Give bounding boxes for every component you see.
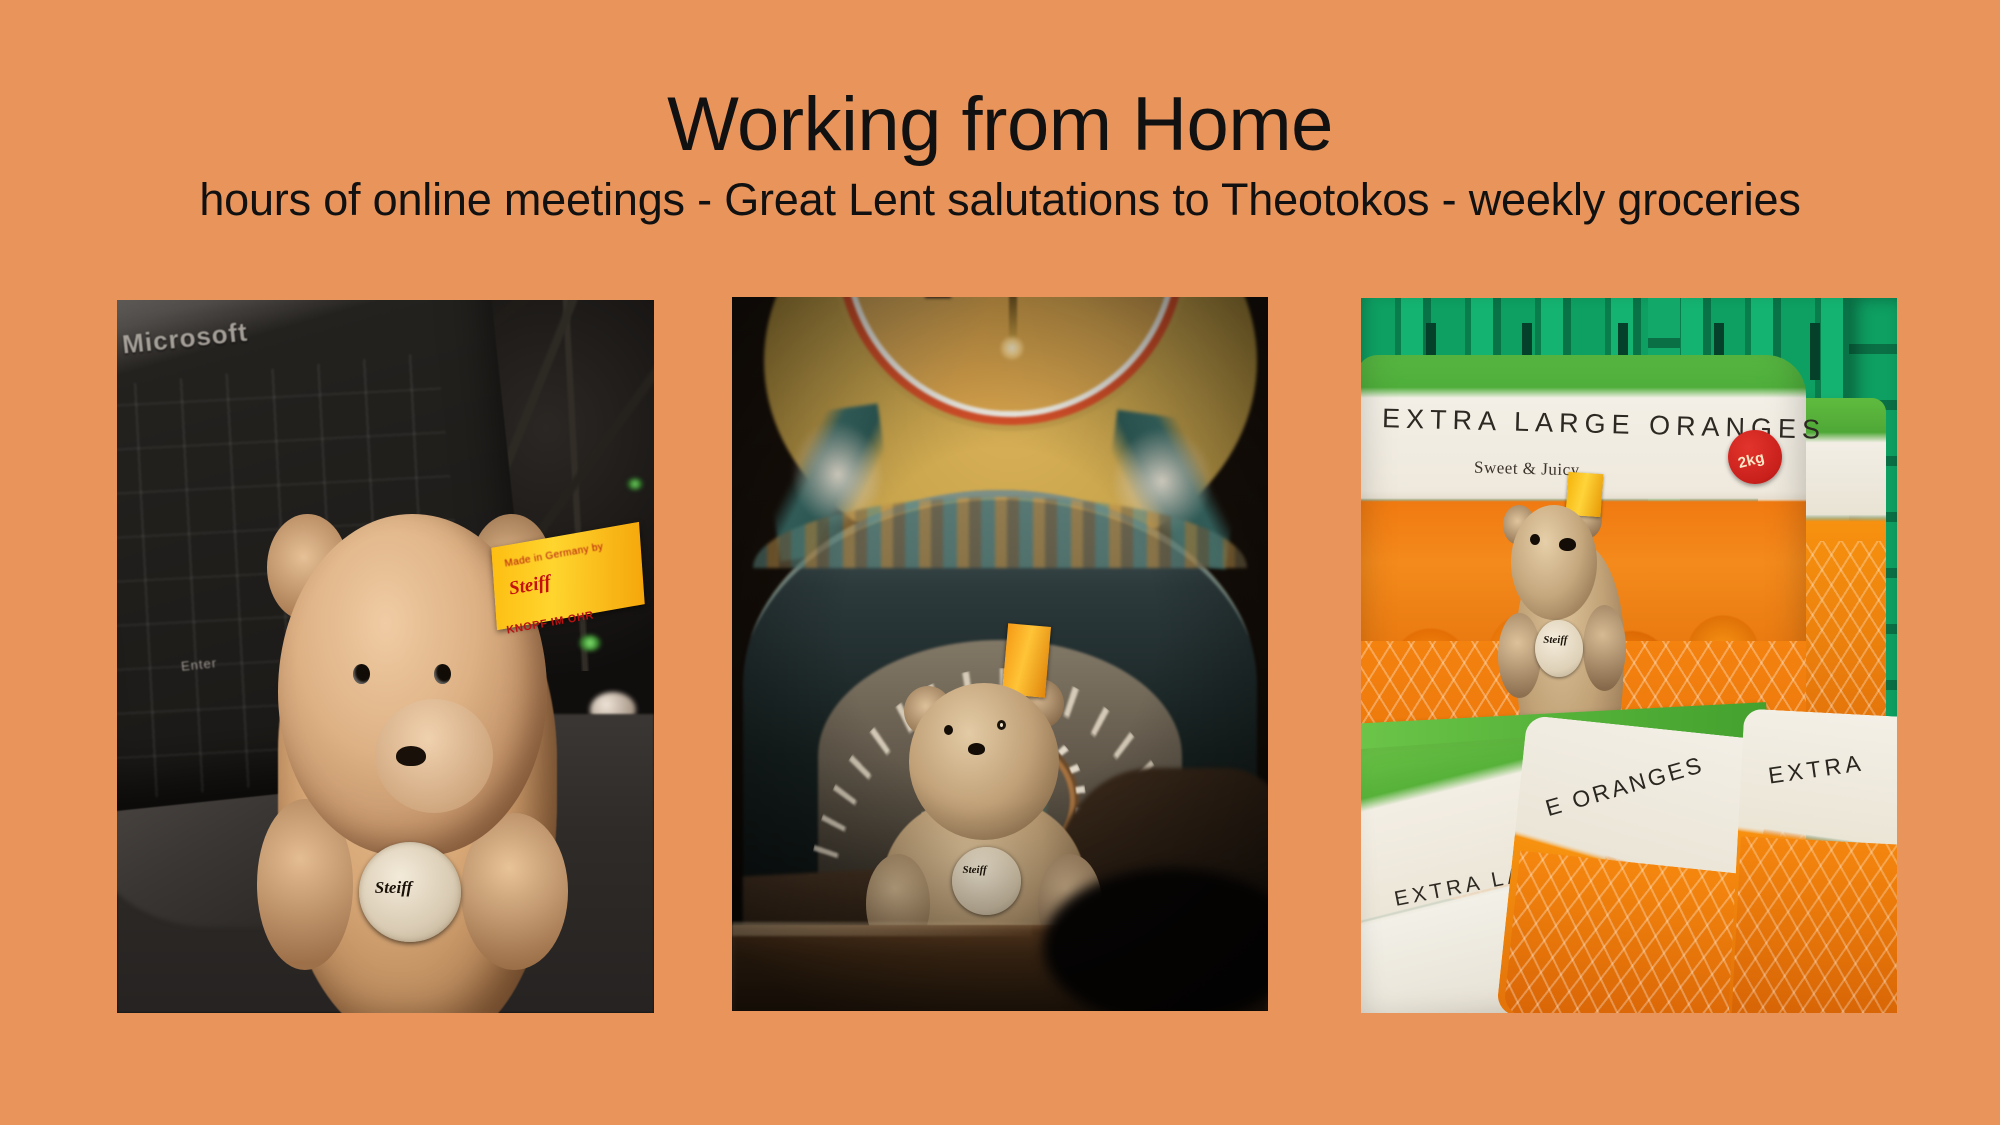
steiff-chest-button xyxy=(1535,620,1583,677)
steiff-chest-button-label: Steiff xyxy=(1543,634,1567,646)
photo2-vignette xyxy=(732,297,1268,1011)
green-led-light xyxy=(579,635,601,651)
teddy-bear-head xyxy=(1511,505,1597,619)
heading-block: Working from Home hours of online meetin… xyxy=(0,86,2000,223)
bag-tagline-text: Sweet & Juicy xyxy=(1473,457,1579,480)
orange-bag-lower-mid-net xyxy=(1503,850,1765,1013)
page-title: Working from Home xyxy=(0,86,2000,164)
teddy-bear-nose xyxy=(1559,538,1576,551)
teddy-bear-nose xyxy=(396,746,426,766)
steiff-chest-button-label: Steiff xyxy=(375,878,412,898)
slide-canvas: Working from Home hours of online meetin… xyxy=(0,0,2000,1125)
teddy-bear-muzzle xyxy=(375,699,493,813)
teddy-bear-arm-left xyxy=(1498,613,1541,699)
photo-oranges-crate[interactable]: EXTRA LARGE ORANGES Sweet & Juicy 2kg St… xyxy=(1361,298,1897,1013)
photo-church-interior[interactable]: Steiff xyxy=(732,297,1268,1011)
page-subtitle: hours of online meetings - Great Lent sa… xyxy=(0,176,2000,223)
teddy-bear-eye-left xyxy=(1530,534,1540,545)
teddy-bear-eye-left xyxy=(353,664,370,684)
orange-bag-lower-right-net xyxy=(1731,837,1897,1013)
teddy-bear-eye-right xyxy=(434,664,451,684)
keyboard-enter-key-label: Enter xyxy=(181,655,218,674)
photo-working-keyboard[interactable]: Microsoft Enter Made in Germany by Steif… xyxy=(117,300,654,1013)
